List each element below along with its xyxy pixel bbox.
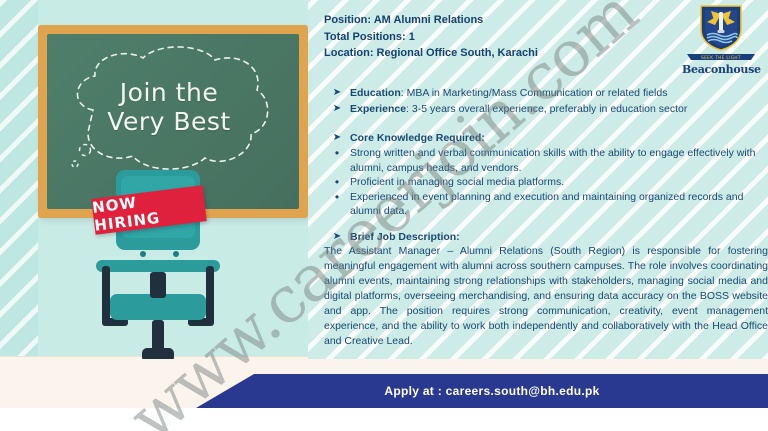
apply-text[interactable]: Apply at : careers.south@bh.edu.pk — [384, 384, 599, 398]
brief-description-heading: Brief Job Description: — [350, 231, 460, 243]
brief-description-body: The Assistant Manager – Alumni Relations… — [324, 244, 768, 349]
list-item: • Proficient in managing social media pl… — [324, 175, 768, 190]
position-header: Position: AM Alumni Relations Total Posi… — [324, 12, 684, 62]
svg-text:SEEK THE LIGHT: SEEK THE LIGHT — [701, 55, 741, 60]
requirement-text: Experience: 3-5 years overall experience… — [350, 102, 768, 117]
arrow-bullet-icon: ➤ — [324, 131, 350, 146]
footer-white-strip — [0, 408, 768, 431]
requirement-label: Education — [350, 87, 401, 99]
chalkboard-text: Join the Very Best — [63, 78, 275, 136]
apply-banner: Apply at : careers.south@bh.edu.pk — [196, 374, 768, 408]
logo-wordmark: Beaconhouse — [682, 63, 760, 76]
crest-shield-icon — [699, 4, 743, 52]
requirement-education: ➤ Education: MBA in Marketing/Mass Commu… — [324, 86, 768, 101]
arrow-bullet-icon: ➤ — [324, 230, 350, 245]
core-knowledge-item-text: Strong written and verbal communication … — [350, 146, 768, 175]
requirement-label: Experience — [350, 103, 406, 115]
arrow-bullet-icon: ➤ — [324, 86, 350, 101]
footer-area: Apply at : careers.south@bh.edu.pk — [0, 359, 768, 431]
requirement-value: : MBA in Marketing/Mass Communication or… — [401, 87, 668, 99]
requirements-section: ➤ Education: MBA in Marketing/Mass Commu… — [324, 86, 768, 117]
dot-bullet-icon: • — [324, 190, 350, 219]
core-knowledge-heading-row: ➤ Core Knowledge Required: — [324, 131, 768, 147]
dot-bullet-icon: • — [324, 146, 350, 175]
core-knowledge-item-text: Proficient in managing social media plat… — [350, 175, 768, 190]
core-knowledge-heading: Core Knowledge Required: — [350, 132, 485, 144]
beaconhouse-logo: SEEK THE LIGHT Beaconhouse — [682, 4, 760, 70]
requirement-experience: ➤ Experience: 3-5 years overall experien… — [324, 102, 768, 117]
list-item: • Experienced in event planning and exec… — [324, 190, 768, 219]
motto-ribbon-icon: SEEK THE LIGHT — [685, 50, 757, 62]
chalk-line-1: Join the — [120, 78, 218, 107]
chalk-line-2: Very Best — [63, 107, 275, 136]
job-advert-poster: Join the Very Best — [0, 0, 768, 431]
total-positions-line: Total Positions: 1 — [324, 29, 684, 46]
list-item: • Strong written and verbal communicatio… — [324, 146, 768, 175]
position-line: Position: AM Alumni Relations — [324, 12, 684, 29]
requirement-value: : 3-5 years overall experience, preferab… — [406, 103, 687, 115]
thought-bubble: Join the Very Best — [63, 46, 275, 174]
requirement-text: Education: MBA in Marketing/Mass Communi… — [350, 86, 768, 101]
location-line: Location: Regional Office South, Karachi — [324, 45, 684, 62]
arrow-bullet-icon: ➤ — [324, 102, 350, 117]
core-knowledge-list: • Strong written and verbal communicatio… — [324, 146, 768, 219]
dot-bullet-icon: • — [324, 175, 350, 190]
core-knowledge-item-text: Experienced in event planning and execut… — [350, 190, 768, 219]
